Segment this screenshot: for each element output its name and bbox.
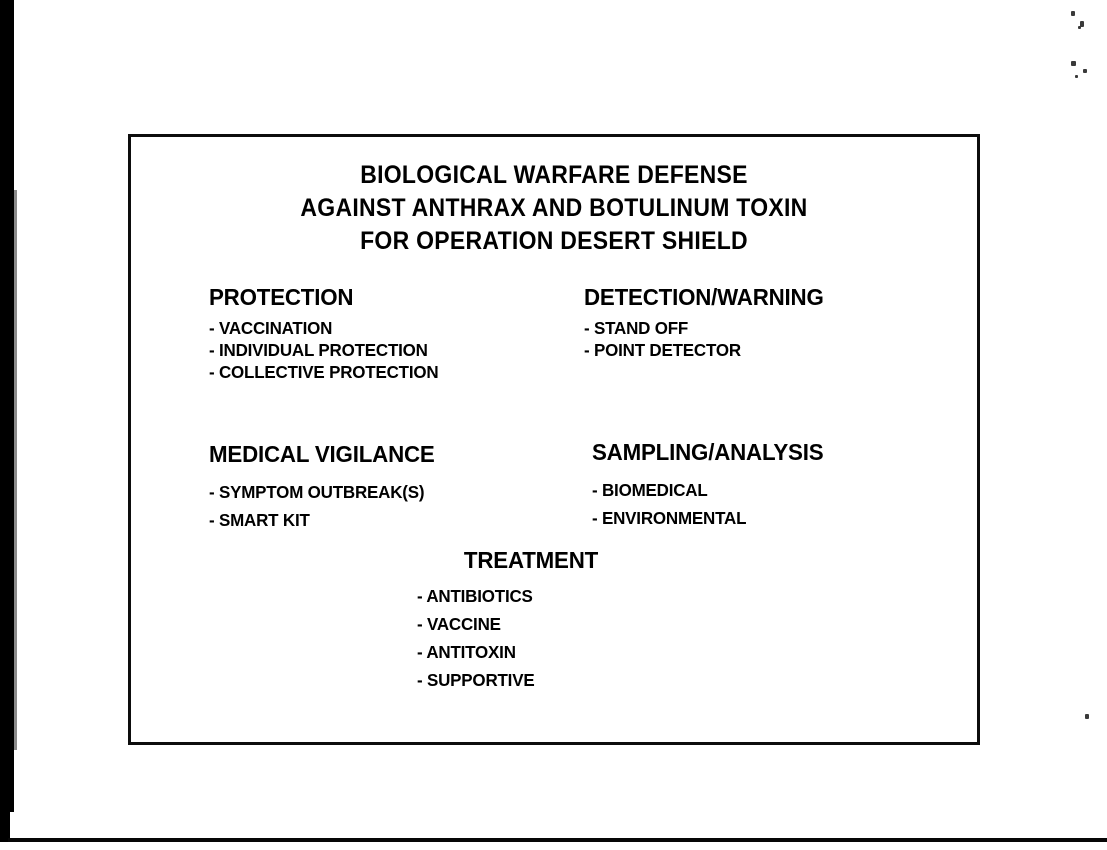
list-item: - SYMPTOM OUTBREAK(S) (209, 478, 435, 506)
section-treatment: TREATMENT - ANTIBIOTICS - VACCINE - ANTI… (381, 547, 681, 694)
bullet-list-protection: - VACCINATION - INDIVIDUAL PROTECTION - … (209, 317, 446, 383)
list-item: - COLLECTIVE PROTECTION (209, 361, 438, 383)
scan-speck (1085, 714, 1089, 719)
section-heading-medical-vigilance: MEDICAL VIGILANCE (209, 441, 435, 467)
slide-title: BIOLOGICAL WARFARE DEFENSE AGAINST ANTHR… (165, 159, 943, 258)
section-heading-protection: PROTECTION (209, 284, 438, 310)
section-sampling-analysis: SAMPLING/ANALYSIS - BIOMEDICAL - ENVIRON… (592, 439, 831, 532)
list-item: - ANTITOXIN (417, 638, 673, 666)
bullet-list-detection-warning: - STAND OFF - POINT DETECTOR (584, 317, 831, 361)
scan-speck (1083, 69, 1087, 73)
list-item: - SUPPORTIVE (417, 666, 673, 694)
list-item: - VACCINATION (209, 317, 438, 339)
section-heading-treatment: TREATMENT (386, 547, 677, 573)
section-detection-warning: DETECTION/WARNING - STAND OFF - POINT DE… (584, 284, 831, 361)
scan-edge-left (0, 0, 14, 812)
list-item: - ANTIBIOTICS (417, 582, 673, 610)
list-item: - ENVIRONMENTAL (592, 504, 823, 532)
slide-frame: BIOLOGICAL WARFARE DEFENSE AGAINST ANTHR… (128, 134, 980, 745)
section-medical-vigilance: MEDICAL VIGILANCE - SYMPTOM OUTBREAK(S) … (209, 441, 442, 534)
scan-speck (1071, 11, 1075, 16)
scan-edge-left-fade (14, 190, 17, 750)
bullet-list-treatment: - ANTIBIOTICS - VACCINE - ANTITOXIN - SU… (381, 582, 681, 694)
section-protection: PROTECTION - VACCINATION - INDIVIDUAL PR… (209, 284, 446, 383)
scan-speck (1071, 61, 1076, 66)
list-item: - INDIVIDUAL PROTECTION (209, 339, 438, 361)
scan-speck (1075, 75, 1078, 78)
list-item: - VACCINE (417, 610, 673, 638)
section-heading-sampling-analysis: SAMPLING/ANALYSIS (592, 439, 823, 465)
bullet-list-medical-vigilance: - SYMPTOM OUTBREAK(S) - SMART KIT (209, 478, 442, 534)
title-line-1: BIOLOGICAL WARFARE DEFENSE (165, 159, 943, 192)
section-heading-detection-warning: DETECTION/WARNING (584, 284, 824, 310)
bullet-list-sampling-analysis: - BIOMEDICAL - ENVIRONMENTAL (592, 476, 831, 532)
list-item: - SMART KIT (209, 506, 435, 534)
scan-edge-bottom (8, 838, 1107, 842)
title-line-3: FOR OPERATION DESERT SHIELD (165, 225, 943, 258)
list-item: - POINT DETECTOR (584, 339, 824, 361)
list-item: - BIOMEDICAL (592, 476, 823, 504)
list-item: - STAND OFF (584, 317, 824, 339)
scan-speck (1078, 26, 1081, 29)
title-line-2: AGAINST ANTHRAX AND BOTULINUM TOXIN (165, 192, 943, 225)
slide-body: PROTECTION - VACCINATION - INDIVIDUAL PR… (131, 284, 977, 724)
